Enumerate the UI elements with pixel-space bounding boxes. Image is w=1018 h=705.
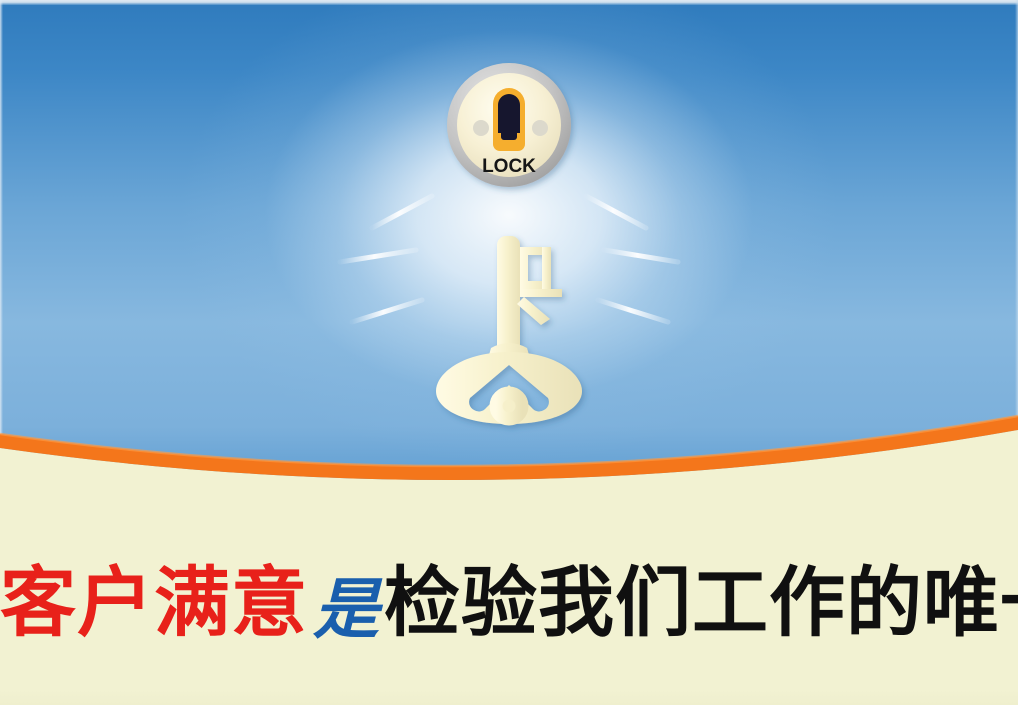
slogan-segment-blue: 是 xyxy=(308,576,384,642)
sky-top-edge xyxy=(0,0,1018,5)
slogan-segment-red: 客户满意 xyxy=(0,565,308,641)
slogan-banner: LOCK 客户满意是检验我们工作的唯一标准 xyxy=(0,0,1018,705)
slogan-text: 客户满意是检验我们工作的唯一标准 xyxy=(0,565,1018,641)
bottom-fade xyxy=(0,689,1018,705)
slogan-band: 客户满意是检验我们工作的唯一标准 xyxy=(0,505,1018,705)
slogan-segment-black: 检验我们工作的唯一标准 xyxy=(384,565,1018,641)
